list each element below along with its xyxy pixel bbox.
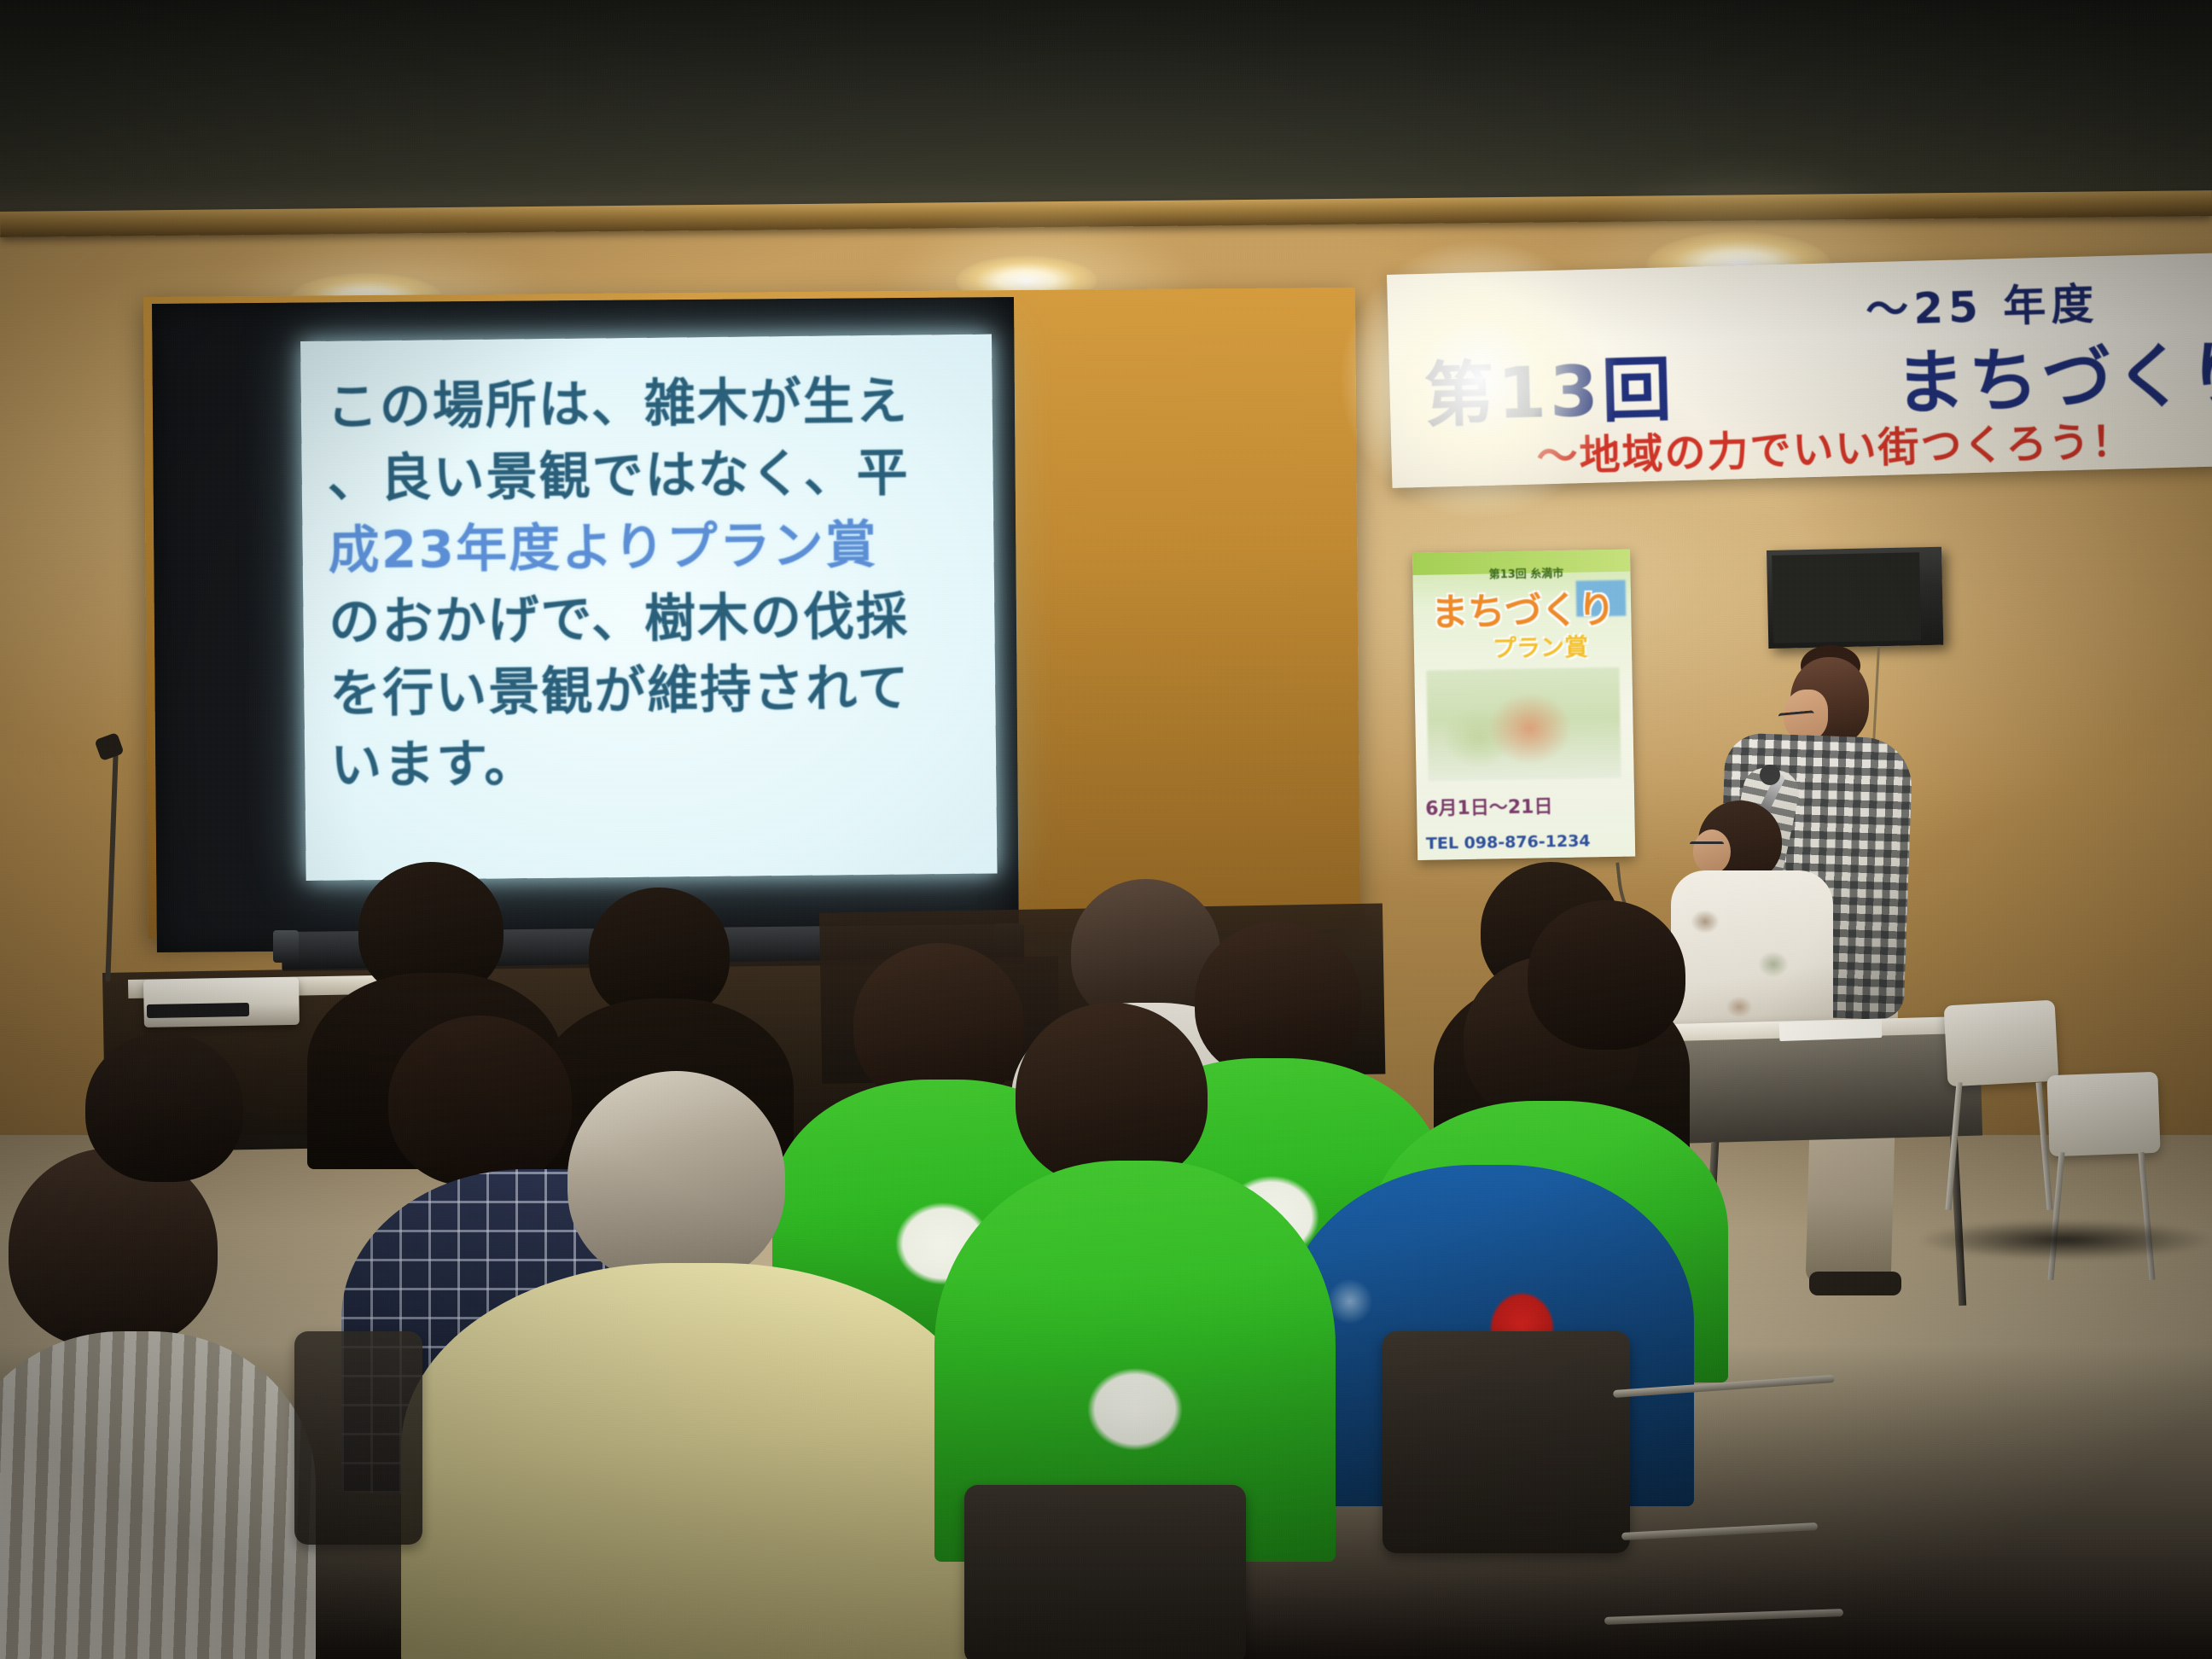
attendee-navy-plaid-head: [388, 1016, 572, 1186]
presenter-shoe: [1809, 1272, 1901, 1295]
attendee-striped-shirt-body: [0, 1331, 316, 1659]
ceiling: [0, 0, 2212, 213]
attendee-dark-silhouette-3-head: [85, 1033, 243, 1182]
wall-speaker-icon: [1767, 547, 1943, 649]
projection-screen: この場所は、雑木が生え、良い景観ではなく、平成23年度よりプラン賞のおかげで、樹…: [300, 335, 998, 881]
projector: [143, 977, 300, 1027]
papers-on-table: [1779, 1019, 1883, 1041]
seated-attendant-glasses: [1690, 841, 1724, 852]
seated-attendant-floral-top: [1671, 870, 1833, 1041]
slide-body-text: この場所は、雑木が生え、良い景観ではなく、平成23年度よりプラン賞のおかげで、樹…: [326, 365, 979, 802]
chair-back-front-center: [964, 1485, 1246, 1659]
poster-dates: 6月1日〜21日: [1425, 790, 1629, 821]
poster-title-sub: プラン賞: [1472, 628, 1610, 665]
chair-back-mid-right: [1382, 1331, 1630, 1553]
folding-chair-2: [2046, 1072, 2160, 1156]
folding-chair-1-legs: [1946, 1082, 2057, 1210]
attendee-green-happi-4-head: [1016, 1003, 1208, 1186]
folding-chair-1: [1944, 1000, 2059, 1087]
projector-lens-icon: [147, 1003, 249, 1018]
wall-poster: 第13回 糸満市 まちづくり プラン賞 6月1日〜21日 TEL 098-876…: [1412, 550, 1635, 860]
attendee-blue-happi-hibiscus-head: [1528, 900, 1685, 1050]
event-banner: 〜25 年度 第13回 まちづくりプラン賞 〜地域の力でいい街つくろう！: [1387, 253, 2212, 487]
microphone-head-icon: [1760, 765, 1780, 785]
attendee-yellow-kariyushi-head: [568, 1071, 785, 1284]
seated-attendant-face: [1693, 829, 1731, 874]
attendee-green-happi-2-head: [1195, 922, 1361, 1080]
screen-knob-left: [273, 930, 299, 963]
poster-photo: [1426, 667, 1621, 782]
attendee-yellow-kariyushi-body: [401, 1263, 990, 1659]
folding-chair-2-legs: [2048, 1152, 2159, 1280]
floor-cable: [1920, 1220, 2210, 1260]
meeting-hall-photo: この場所は、雑木が生え、良い景観ではなく、平成23年度よりプラン賞のおかげで、樹…: [0, 0, 2212, 1659]
chair-back-front-left: [294, 1331, 422, 1545]
presenter-table-body: [1673, 1033, 1982, 1144]
poster-telephone: TEL 098-876-1234: [1426, 831, 1629, 853]
